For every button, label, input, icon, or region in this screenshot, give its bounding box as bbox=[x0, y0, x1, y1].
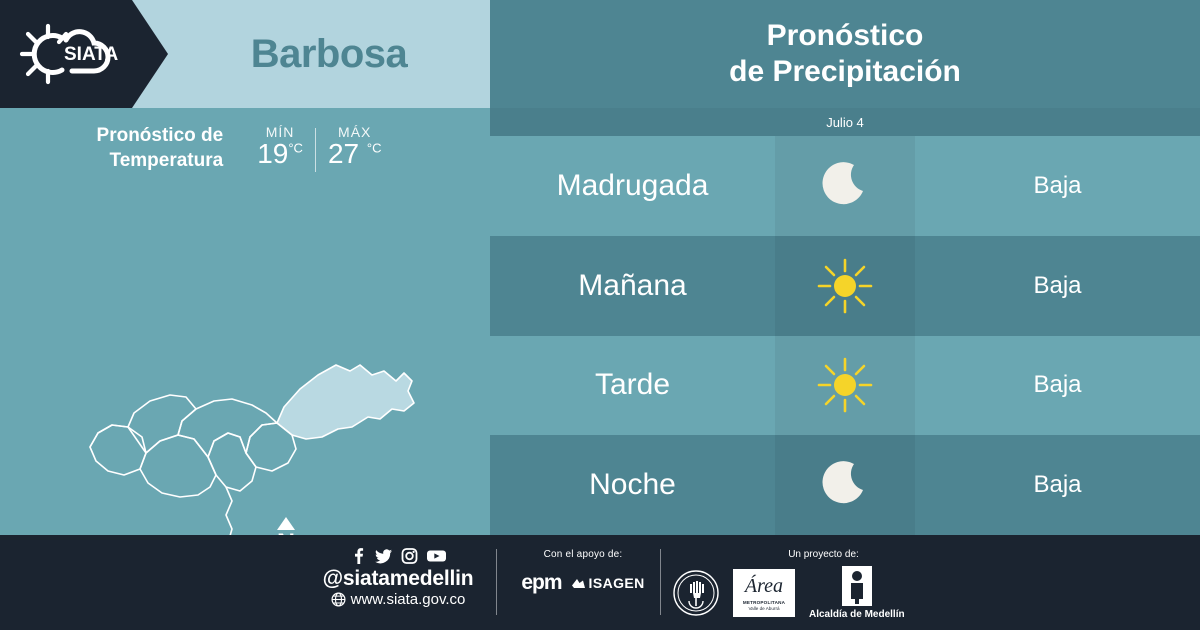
support-block: Con el apoyo de: epm ISAGEN bbox=[508, 549, 658, 595]
area-line2: Valle de Aburrá bbox=[733, 606, 795, 611]
project-block: Un proyecto de: Área METROPOLITANA Valle… bbox=[665, 549, 930, 620]
footer: @siatamedellin www.siata.gov.co Con el a… bbox=[0, 535, 1200, 630]
left-header: SIATA Barbosa bbox=[0, 0, 490, 108]
forecast-period: Noche bbox=[490, 435, 775, 535]
support-logos: epm ISAGEN bbox=[508, 571, 658, 595]
forecast-table: Madrugada BajaMañana BajaTarde bbox=[490, 136, 1200, 535]
alcaldia-label: Alcaldía de Medellín bbox=[809, 609, 905, 620]
forecast-weather-icon bbox=[775, 136, 915, 236]
municipality-map: N bbox=[0, 185, 490, 535]
forecast-date: Julio 4 bbox=[490, 108, 1200, 136]
website-url: www.siata.gov.co bbox=[351, 591, 466, 608]
isagen-wordmark: ISAGEN bbox=[589, 575, 645, 591]
right-panel: Pronóstico de Precipitación Julio 4 Madr… bbox=[490, 0, 1200, 535]
forecast-period: Mañana bbox=[490, 236, 775, 336]
project-logos: Área METROPOLITANA Valle de Aburrá Alcal… bbox=[665, 566, 930, 620]
temperature-max-unit: °C bbox=[367, 141, 382, 156]
map-region-bello bbox=[140, 435, 216, 497]
isagen-logo: ISAGEN bbox=[571, 575, 645, 591]
forecast-probability: Baja bbox=[915, 136, 1200, 236]
forecast-row: Tarde Baja bbox=[490, 336, 1200, 436]
temperature-min-label: MÍN bbox=[257, 124, 303, 140]
forecast-row: Noche Baja bbox=[490, 435, 1200, 535]
globe-icon bbox=[331, 592, 346, 607]
temperature-forecast: Pronóstico de Temperatura MÍN 19°C MÁX 2… bbox=[0, 108, 490, 188]
temperature-values: MÍN 19°C MÁX 27 °C bbox=[245, 124, 393, 172]
forecast-probability: Baja bbox=[915, 435, 1200, 535]
moon-icon bbox=[819, 459, 871, 511]
temperature-title-line1: Pronóstico de bbox=[97, 125, 224, 146]
udea-seal-icon bbox=[673, 570, 719, 616]
temperature-min: MÍN 19°C bbox=[245, 124, 315, 170]
map-river-line bbox=[226, 487, 240, 535]
forecast-weather-icon bbox=[775, 435, 915, 535]
precipitation-title-line2: de Precipitación bbox=[729, 54, 961, 90]
sun-cloud-icon: SIATA bbox=[12, 18, 132, 90]
temperature-max: MÁX 27 °C bbox=[316, 124, 394, 170]
siata-logo-block: SIATA bbox=[0, 0, 168, 108]
forecast-weather-icon bbox=[775, 236, 915, 336]
social-handle[interactable]: @siatamedellin bbox=[300, 567, 496, 591]
youtube-icon[interactable] bbox=[426, 547, 447, 565]
forecast-probability: Baja bbox=[915, 236, 1200, 336]
instagram-icon[interactable] bbox=[401, 547, 418, 565]
website-line[interactable]: www.siata.gov.co bbox=[300, 591, 496, 608]
forecast-period: Madrugada bbox=[490, 136, 775, 236]
area-script: Área bbox=[733, 575, 795, 598]
support-caption: Con el apoyo de: bbox=[508, 549, 658, 560]
epm-logo: epm bbox=[521, 571, 561, 595]
map-region-barbosa[interactable] bbox=[277, 365, 414, 439]
forecast-row: Mañana Baja bbox=[490, 236, 1200, 336]
area-metropolitana-logo: Área METROPOLITANA Valle de Aburrá bbox=[733, 569, 795, 617]
forecast-weather-icon bbox=[775, 336, 915, 436]
footer-divider-2 bbox=[660, 549, 661, 615]
precipitation-title-line1: Pronóstico bbox=[767, 18, 924, 54]
map-region-hatillo bbox=[178, 399, 277, 457]
forecast-period: Tarde bbox=[490, 336, 775, 436]
temperature-min-unit: °C bbox=[288, 141, 303, 156]
left-panel: SIATA Barbosa Pronóstico de Temperatura … bbox=[0, 0, 490, 535]
footer-divider-1 bbox=[496, 549, 497, 615]
forecast-row: Madrugada Baja bbox=[490, 136, 1200, 236]
infographic-root: SIATA Barbosa Pronóstico de Temperatura … bbox=[0, 0, 1200, 630]
temperature-title: Pronóstico de Temperatura bbox=[97, 123, 224, 173]
city-title: Barbosa bbox=[168, 0, 490, 108]
temperature-title-line2: Temperatura bbox=[110, 150, 224, 171]
alcaldia-mark-icon bbox=[842, 566, 872, 606]
temperature-max-value: 27 °C bbox=[328, 138, 382, 170]
twitter-icon[interactable] bbox=[374, 547, 393, 565]
sun-icon bbox=[816, 356, 874, 414]
project-caption: Un proyecto de: bbox=[717, 549, 930, 560]
siata-logo-text: SIATA bbox=[64, 44, 118, 65]
social-icons bbox=[300, 547, 496, 565]
area-line1: METROPOLITANA bbox=[733, 600, 795, 605]
social-block: @siatamedellin www.siata.gov.co bbox=[300, 547, 496, 608]
temperature-min-value: 19°C bbox=[257, 138, 303, 170]
alcaldia-logo: Alcaldía de Medellín bbox=[809, 566, 905, 620]
moon-icon bbox=[819, 160, 871, 212]
map-region-north-west bbox=[90, 395, 196, 453]
facebook-icon[interactable] bbox=[350, 547, 366, 565]
sun-icon bbox=[816, 257, 874, 315]
temperature-max-label: MÁX bbox=[328, 124, 382, 140]
precipitation-title: Pronóstico de Precipitación bbox=[490, 0, 1200, 108]
map-svg bbox=[0, 185, 490, 535]
forecast-probability: Baja bbox=[915, 336, 1200, 436]
isagen-mark-icon bbox=[571, 577, 586, 590]
